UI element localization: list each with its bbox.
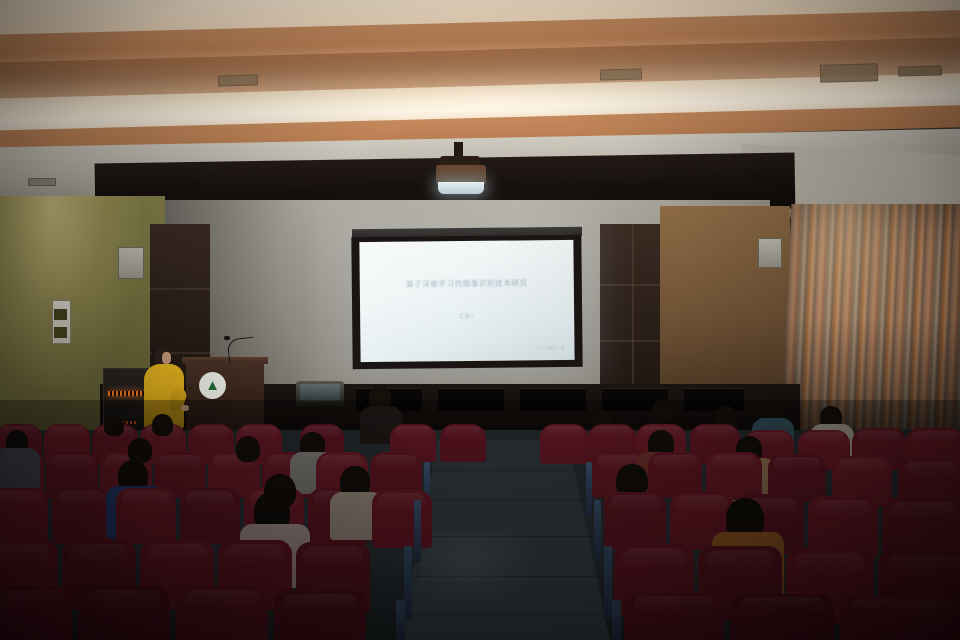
seat[interactable] (176, 586, 268, 640)
seat-frame (414, 500, 421, 562)
microphone-head (224, 336, 230, 340)
seat-frame (396, 600, 405, 640)
curtain-shading (781, 204, 960, 454)
stage-recess (520, 388, 586, 411)
institution-emblem: ▲ (199, 372, 226, 399)
ceiling-vent-icon (600, 68, 642, 80)
seat[interactable] (540, 424, 588, 464)
audience-head (652, 400, 674, 423)
audience-torso (0, 448, 40, 488)
presenter-hand (181, 405, 189, 411)
monitor-display (300, 384, 340, 401)
loudspeaker-icon (118, 247, 144, 279)
stage-recess (684, 388, 744, 411)
ceiling-vent-icon (28, 178, 56, 186)
seat-frame (594, 500, 601, 562)
projection-screen: 基于深度学习的图像识别技术研究 汇报人 二〇一八年十一月 (351, 235, 582, 369)
projector-lens (438, 182, 484, 194)
floor-reflection (420, 530, 540, 610)
seat[interactable] (0, 586, 72, 640)
seat[interactable] (52, 488, 112, 544)
seat[interactable] (604, 492, 666, 550)
ceiling-vent-icon (898, 65, 942, 76)
loudspeaker-icon (758, 238, 782, 268)
emblem-mark: ▲ (205, 378, 220, 393)
microphone-icon (227, 337, 256, 365)
seat-frame (612, 600, 621, 640)
seat[interactable] (840, 596, 960, 640)
audience-head (104, 416, 124, 436)
floor-plank (410, 470, 600, 471)
rack-led-indicators (108, 391, 144, 396)
panel-divider (150, 288, 210, 290)
screen-glare (359, 240, 574, 362)
lecture-hall-photo: 基于深度学习的图像识别技术研究 汇报人 二〇一八年十一月 ▲ (0, 0, 960, 640)
seat[interactable] (440, 424, 486, 462)
stage-recess (438, 388, 504, 411)
seat[interactable] (730, 594, 834, 640)
seat[interactable] (116, 488, 176, 544)
seat-frame (404, 546, 412, 620)
wall-panel-slot (54, 327, 67, 338)
seat[interactable] (0, 488, 48, 544)
seat[interactable] (274, 590, 366, 640)
presenter-face (162, 352, 171, 364)
right-wall (660, 206, 790, 410)
panel-divider (632, 224, 634, 410)
audience-head (152, 414, 173, 436)
floor-plank (386, 614, 624, 615)
seat[interactable] (624, 592, 724, 640)
projector-icon (432, 152, 490, 196)
seat[interactable] (78, 586, 170, 640)
left-wall-light-pool (0, 196, 140, 386)
seat-frame (604, 546, 612, 620)
ceiling-vent-icon (820, 63, 878, 83)
ceiling-vent-icon (218, 74, 258, 86)
seat[interactable] (180, 488, 240, 544)
seat[interactable] (372, 490, 432, 548)
floor-plank (404, 500, 606, 501)
audience-head (236, 436, 260, 462)
wall-panel-slot (54, 309, 67, 320)
